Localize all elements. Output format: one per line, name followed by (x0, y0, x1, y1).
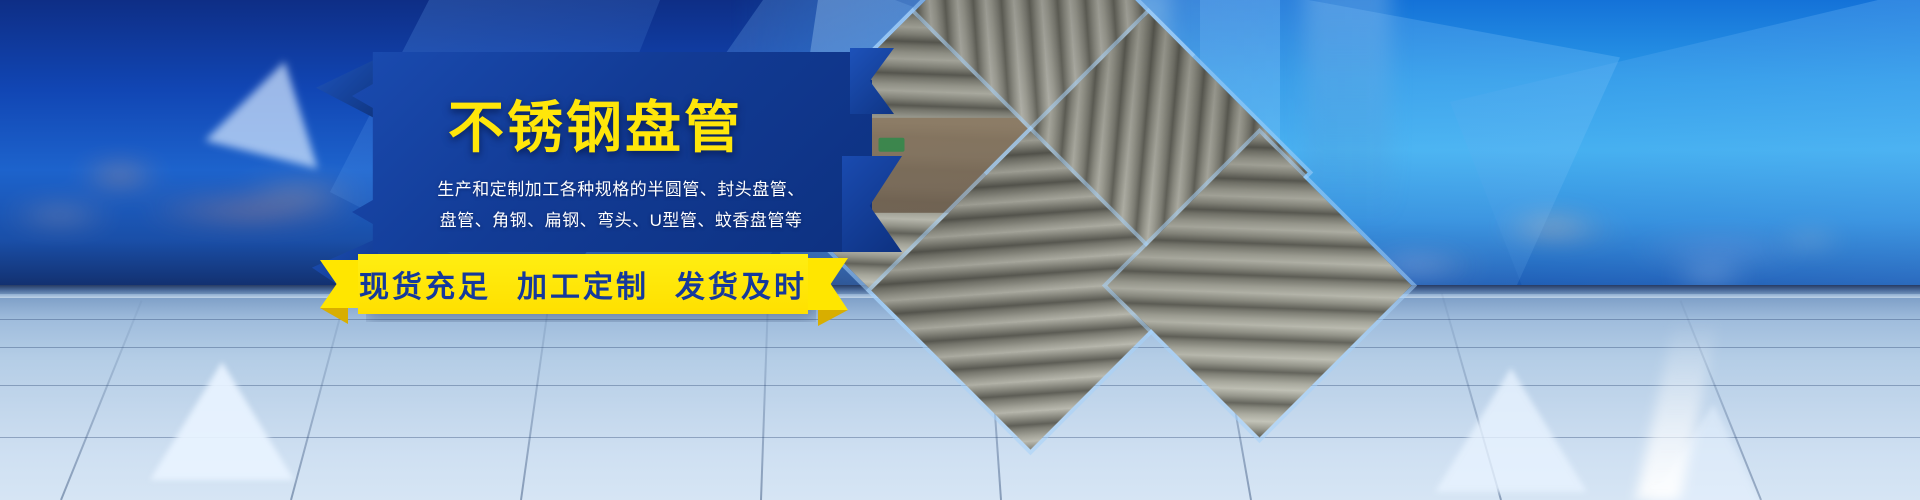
floor-grid-line (290, 292, 348, 500)
floor-grid-line (60, 300, 142, 500)
feature-ribbon: 现货充足 加工定制 发货及时 (358, 254, 808, 314)
ribbon-text: 现货充足 加工定制 发货及时 (358, 254, 808, 314)
headline-panel: 不锈钢盘管 生产和定制加工各种规格的半圆管、封头盘管、 盘管、角钢、扁钢、弯头、… (352, 52, 872, 252)
ribbon-item-stock: 现货充足 (359, 262, 491, 306)
subtitle-text: 生产和定制加工各种规格的半圆管、封头盘管、 盘管、角钢、扁钢、弯头、U型管、蚊香… (406, 174, 836, 237)
page-title: 不锈钢盘管 (448, 100, 743, 156)
ribbon-item-shipping: 发货及时 (675, 262, 807, 306)
glow-triangle-icon (150, 362, 294, 480)
glow-triangle-icon (1435, 368, 1587, 492)
product-hero-banner: 不锈钢盘管 生产和定制加工各种规格的半圆管、封头盘管、 盘管、角钢、扁钢、弯头、… (0, 0, 1920, 500)
product-photo-collage (830, 0, 1350, 500)
ribbon-item-custom: 加工定制 (517, 262, 649, 306)
subtitle-line-2: 盘管、角钢、扁钢、弯头、U型管、蚊香盘管等 (406, 205, 836, 236)
subtitle-line-1: 生产和定制加工各种规格的半圆管、封头盘管、 (406, 174, 836, 205)
